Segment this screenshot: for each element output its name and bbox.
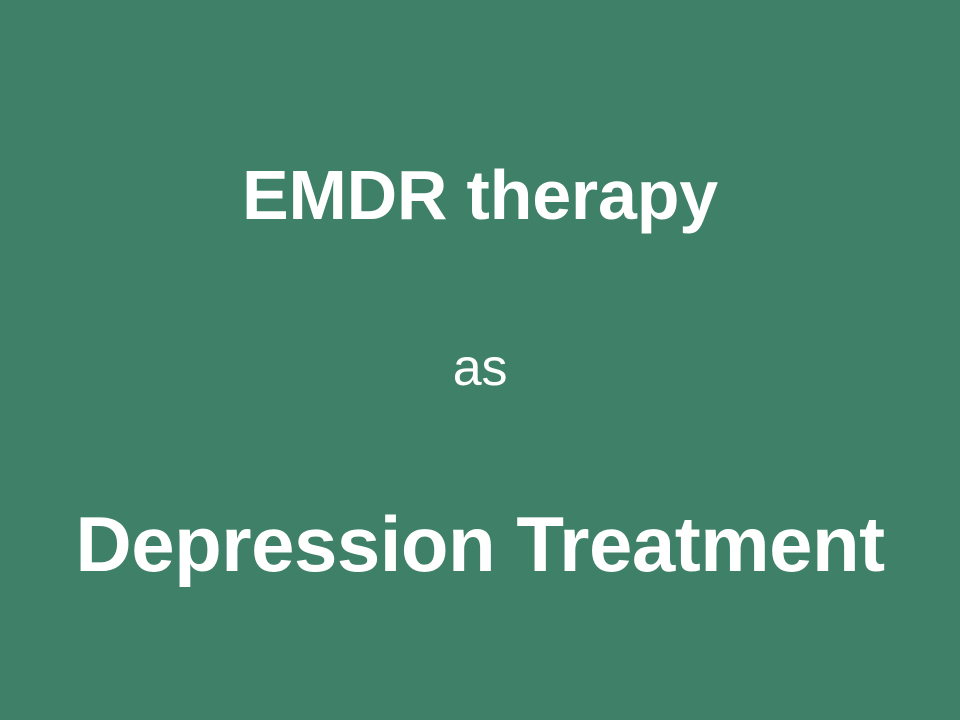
title-slide: EMDR therapy as Depression Treatment bbox=[0, 0, 960, 720]
slide-subject-line: Depression Treatment bbox=[0, 496, 960, 592]
slide-text-block: EMDR therapy as Depression Treatment bbox=[0, 0, 960, 720]
slide-blank-line-1 bbox=[0, 240, 960, 326]
slide-blank-line-2 bbox=[0, 404, 960, 490]
slide-connector-line: as bbox=[0, 336, 960, 400]
slide-title-line: EMDR therapy bbox=[0, 152, 960, 238]
